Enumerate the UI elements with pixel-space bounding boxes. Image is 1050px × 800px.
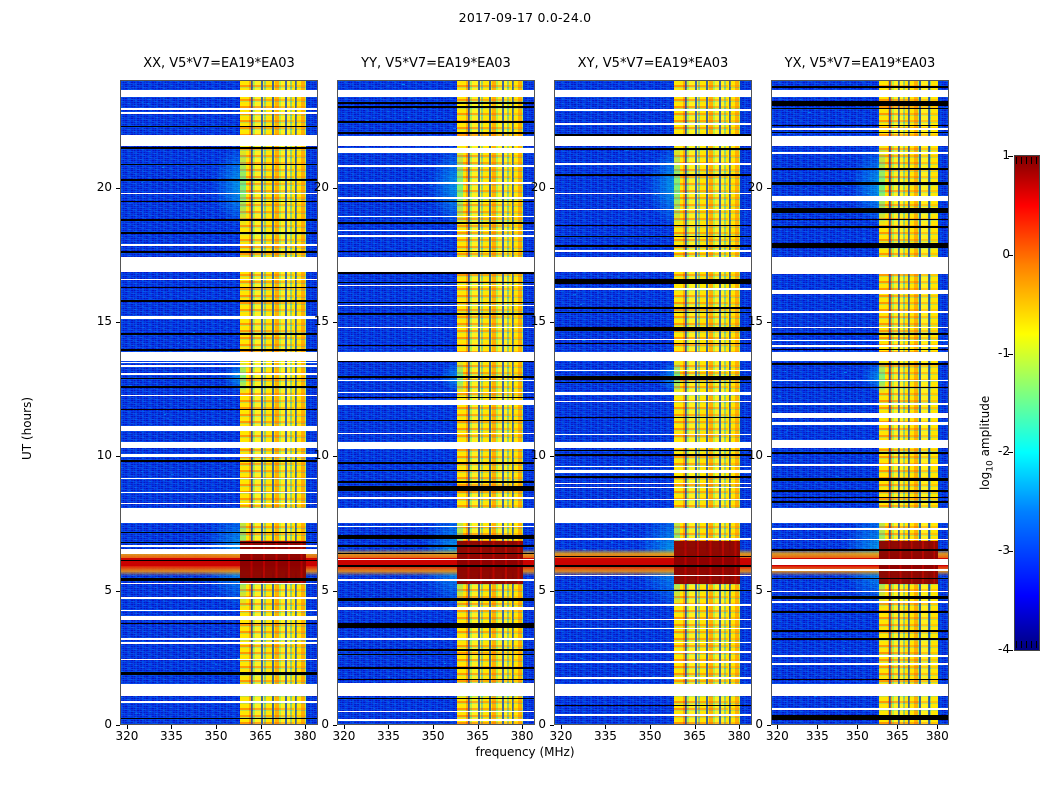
y-tick-label: 5 bbox=[512, 583, 546, 597]
y-tick-mark bbox=[333, 456, 337, 457]
x-tick-label: 335 bbox=[797, 729, 837, 743]
y-tick-mark bbox=[333, 725, 337, 726]
colorbar-top-minor-ticks bbox=[1016, 157, 1038, 164]
figure-suptitle: 2017-09-17 0.0-24.0 bbox=[0, 10, 1050, 25]
y-tick-mark bbox=[550, 725, 554, 726]
y-tick-mark bbox=[550, 188, 554, 189]
x-tick-label: 335 bbox=[368, 729, 408, 743]
y-tick-label: 15 bbox=[78, 314, 112, 328]
figure-canvas: 2017-09-17 0.0-24.0 XX, V5*V7=EA19*EA03 … bbox=[0, 0, 1050, 800]
x-tick-label: 365 bbox=[877, 729, 917, 743]
x-tick-label: 320 bbox=[757, 729, 797, 743]
y-tick-mark bbox=[116, 456, 120, 457]
y-tick-label: 15 bbox=[729, 314, 763, 328]
x-axis-label: frequency (MHz) bbox=[0, 745, 1050, 759]
y-tick-label: 20 bbox=[512, 180, 546, 194]
y-tick-label: 5 bbox=[295, 583, 329, 597]
x-tick-label: 320 bbox=[107, 729, 147, 743]
colorbar-tick-label: -4 bbox=[980, 642, 1010, 656]
panel-title-xx: XX, V5*V7=EA19*EA03 bbox=[120, 56, 318, 74]
y-tick-label: 10 bbox=[729, 448, 763, 462]
flagged-row-stripes bbox=[121, 81, 317, 724]
x-tick-label: 365 bbox=[458, 729, 498, 743]
x-tick-label: 350 bbox=[413, 729, 453, 743]
flagged-row-stripes bbox=[555, 81, 751, 724]
colorbar-bottom-minor-ticks bbox=[1016, 641, 1038, 648]
x-tick-label: 335 bbox=[585, 729, 625, 743]
waterfall-panel-xy[interactable] bbox=[554, 80, 752, 725]
y-tick-label: 20 bbox=[295, 180, 329, 194]
colorbar-tick-label: -2 bbox=[980, 444, 1010, 458]
waterfall-panel-yx[interactable] bbox=[771, 80, 949, 725]
x-tick-label: 350 bbox=[196, 729, 236, 743]
y-tick-mark bbox=[767, 456, 771, 457]
y-tick-mark bbox=[550, 456, 554, 457]
flagged-row-stripes bbox=[338, 81, 534, 724]
x-tick-label: 380 bbox=[285, 729, 325, 743]
y-tick-label: 20 bbox=[729, 180, 763, 194]
y-tick-label: 10 bbox=[295, 448, 329, 462]
colorbar-label: log10 amplitude bbox=[978, 396, 995, 490]
y-tick-label: 15 bbox=[295, 314, 329, 328]
x-tick-label: 320 bbox=[324, 729, 364, 743]
y-axis-label: UT (hours) bbox=[20, 397, 34, 460]
panel-title-yy: YY, V5*V7=EA19*EA03 bbox=[337, 56, 535, 74]
x-tick-label: 350 bbox=[630, 729, 670, 743]
waterfall-panel-yy[interactable] bbox=[337, 80, 535, 725]
panel-title-yx: YX, V5*V7=EA19*EA03 bbox=[771, 56, 949, 74]
x-tick-label: 350 bbox=[837, 729, 877, 743]
x-tick-label: 335 bbox=[151, 729, 191, 743]
x-tick-label: 380 bbox=[719, 729, 759, 743]
y-tick-mark bbox=[116, 591, 120, 592]
x-tick-label: 380 bbox=[917, 729, 957, 743]
y-tick-label: 5 bbox=[78, 583, 112, 597]
colorbar-tick-label: -3 bbox=[980, 543, 1010, 557]
x-tick-label: 380 bbox=[502, 729, 542, 743]
colorbar-label-subscript: 10 bbox=[985, 460, 995, 471]
y-tick-mark bbox=[767, 188, 771, 189]
colorbar-tick-label: 0 bbox=[980, 247, 1010, 261]
panel-title-xy: XY, V5*V7=EA19*EA03 bbox=[554, 56, 752, 74]
y-tick-mark bbox=[116, 725, 120, 726]
y-tick-mark bbox=[116, 322, 120, 323]
y-tick-mark bbox=[116, 188, 120, 189]
colorbar-tick-label: -1 bbox=[980, 346, 1010, 360]
x-tick-label: 365 bbox=[241, 729, 281, 743]
x-tick-label: 320 bbox=[541, 729, 581, 743]
y-tick-label: 10 bbox=[78, 448, 112, 462]
colorbar-tick-label: 1 bbox=[980, 148, 1010, 162]
y-tick-mark bbox=[550, 591, 554, 592]
waterfall-panel-xx[interactable] bbox=[120, 80, 318, 725]
y-tick-mark bbox=[767, 591, 771, 592]
y-tick-label: 20 bbox=[78, 180, 112, 194]
colorbar-label-text: log10 amplitude bbox=[978, 396, 992, 490]
y-tick-mark bbox=[333, 591, 337, 592]
y-tick-mark bbox=[333, 188, 337, 189]
x-tick-label: 365 bbox=[675, 729, 715, 743]
y-tick-mark bbox=[767, 322, 771, 323]
y-tick-mark bbox=[333, 322, 337, 323]
colorbar[interactable] bbox=[1014, 155, 1040, 651]
y-tick-label: 5 bbox=[729, 583, 763, 597]
flagged-row-stripes bbox=[772, 81, 948, 724]
y-tick-mark bbox=[767, 725, 771, 726]
y-tick-label: 10 bbox=[512, 448, 546, 462]
y-tick-mark bbox=[550, 322, 554, 323]
y-tick-label: 15 bbox=[512, 314, 546, 328]
